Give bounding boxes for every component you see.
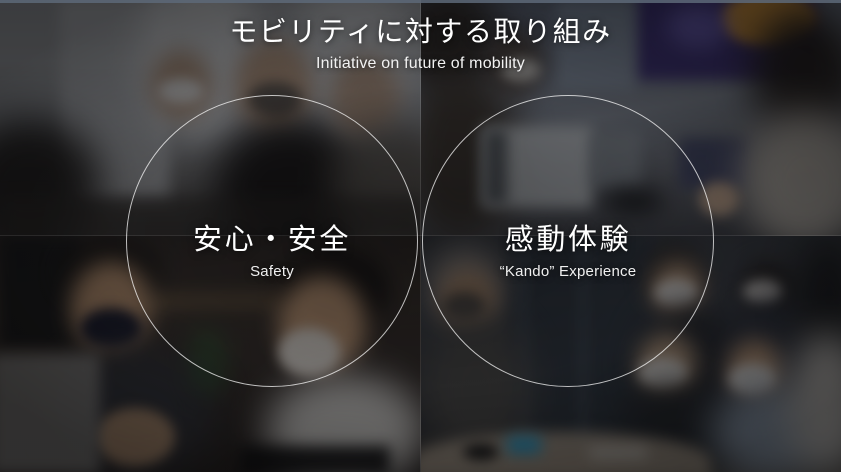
pillar-safety: 安心・安全 Safety xyxy=(107,223,437,280)
slide-subtitle-en: Initiative on future of mobility xyxy=(0,55,841,73)
pillar-safety-label-jp: 安心・安全 xyxy=(107,223,437,257)
top-edge-band xyxy=(0,0,841,3)
presentation-slide: モビリティに対する取り組み Initiative on future of mo… xyxy=(0,0,841,472)
pillar-safety-label-en: Safety xyxy=(107,263,437,280)
pillar-kando-experience: 感動体験 “Kando” Experience xyxy=(403,223,733,280)
pillar-kando-label-jp: 感動体験 xyxy=(403,223,733,257)
slide-title-jp: モビリティに対する取り組み xyxy=(0,16,841,47)
pillar-kando-label-en: “Kando” Experience xyxy=(403,263,733,280)
